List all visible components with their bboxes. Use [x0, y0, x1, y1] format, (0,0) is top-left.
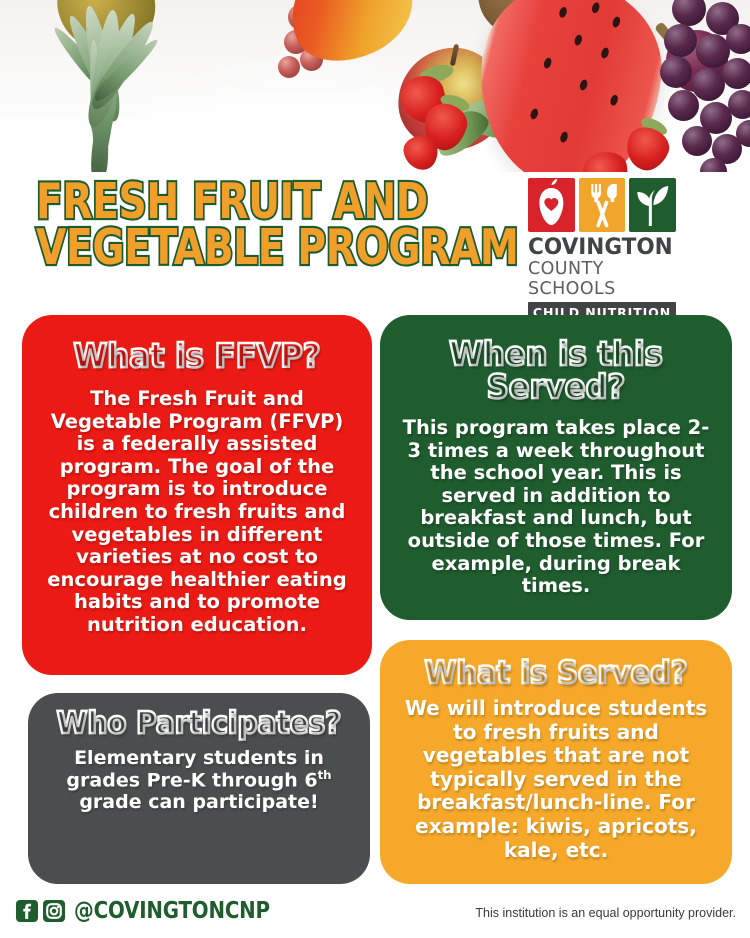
- card-body: This program takes place 2-3 times a wee…: [394, 417, 718, 598]
- card-body: The Fresh Fruit and Vegetable Program (F…: [36, 388, 358, 637]
- leaf-sprout-icon: [629, 178, 676, 232]
- equal-opportunity-notice: This institution is an equal opportunity…: [475, 906, 736, 920]
- card-body: We will introduce students to fresh frui…: [394, 697, 718, 862]
- card-body: Elementary students in grades Pre-K thro…: [42, 747, 356, 813]
- ordinal-suffix: th: [318, 768, 332, 782]
- card-body-pre: Elementary students in grades Pre-K thro…: [66, 747, 324, 791]
- card-what-is-ffvp: What is FFVP? The Fresh Fruit and Vegeta…: [22, 315, 372, 675]
- page-title-line-1: FRESH FRUIT AND: [36, 180, 428, 224]
- facebook-icon[interactable]: [16, 900, 38, 922]
- logo-line-county-schools: COUNTY SCHOOLS: [528, 260, 676, 299]
- apple-heart-icon: [528, 178, 575, 232]
- card-who-participates: Who Participates? Elementary students in…: [28, 693, 370, 884]
- card-when-is-this-served: When is this Served? This program takes …: [380, 315, 732, 620]
- instagram-icon[interactable]: [43, 900, 65, 922]
- fork-knife-icon: [579, 178, 626, 232]
- page-title: FRESH FRUIT AND VEGETABLE PROGRAM: [36, 180, 526, 270]
- card-heading: Who Participates?: [53, 709, 345, 739]
- logo-line-covington: COVINGTON: [528, 237, 673, 259]
- social-handle[interactable]: @COVINGTONCNP: [74, 898, 270, 924]
- card-what-is-served: What is Served? We will introduce studen…: [380, 640, 732, 884]
- logo-icon-panels: [528, 178, 676, 232]
- flyer-page: FRESH FRUIT AND VEGETABLE PROGRAM: [0, 0, 750, 938]
- fresh-fruit-photo-banner: [0, 0, 750, 172]
- card-body-post: grade can participate!: [79, 791, 318, 813]
- page-title-line-2: VEGETABLE PROGRAM: [36, 226, 428, 270]
- covington-county-schools-logo: COVINGTON COUNTY SCHOOLS CHILD NUTRITION: [528, 178, 676, 323]
- card-heading: What is Served?: [405, 658, 706, 689]
- card-heading: When is this Served?: [405, 337, 706, 403]
- footer: @COVINGTONCNP This institution is an equ…: [0, 896, 750, 938]
- social-links: @COVINGTONCNP: [16, 898, 302, 924]
- card-heading: What is FFVP?: [47, 339, 346, 372]
- logo-wordmark: COVINGTON COUNTY SCHOOLS CHILD NUTRITION: [528, 237, 676, 323]
